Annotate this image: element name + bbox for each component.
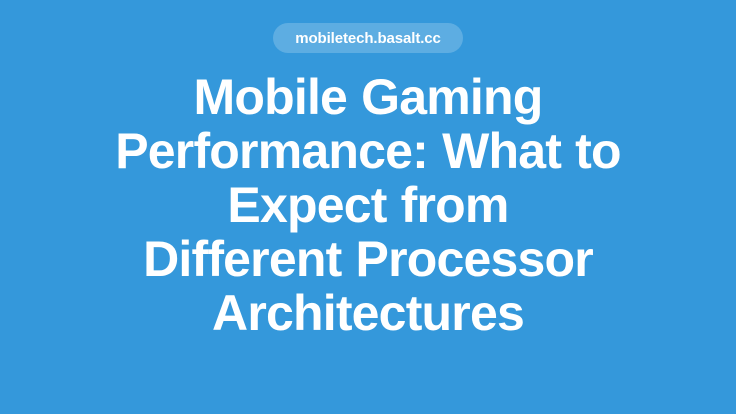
headline-line-4: Different Processor xyxy=(115,232,621,286)
domain-badge: mobiletech.basalt.cc xyxy=(273,23,463,53)
headline-line-5: Architectures xyxy=(115,286,621,340)
headline-line-1: Mobile Gaming xyxy=(115,70,621,124)
headline-line-2: Performance: What to xyxy=(115,124,621,178)
domain-badge-label: mobiletech.basalt.cc xyxy=(295,31,441,46)
page-title: Mobile Gaming Performance: What to Expec… xyxy=(115,70,621,340)
headline-line-3: Expect from xyxy=(115,178,621,232)
headline-container: Mobile Gaming Performance: What to Expec… xyxy=(28,70,708,340)
title-card: mobiletech.basalt.cc Mobile Gaming Perfo… xyxy=(0,0,736,414)
